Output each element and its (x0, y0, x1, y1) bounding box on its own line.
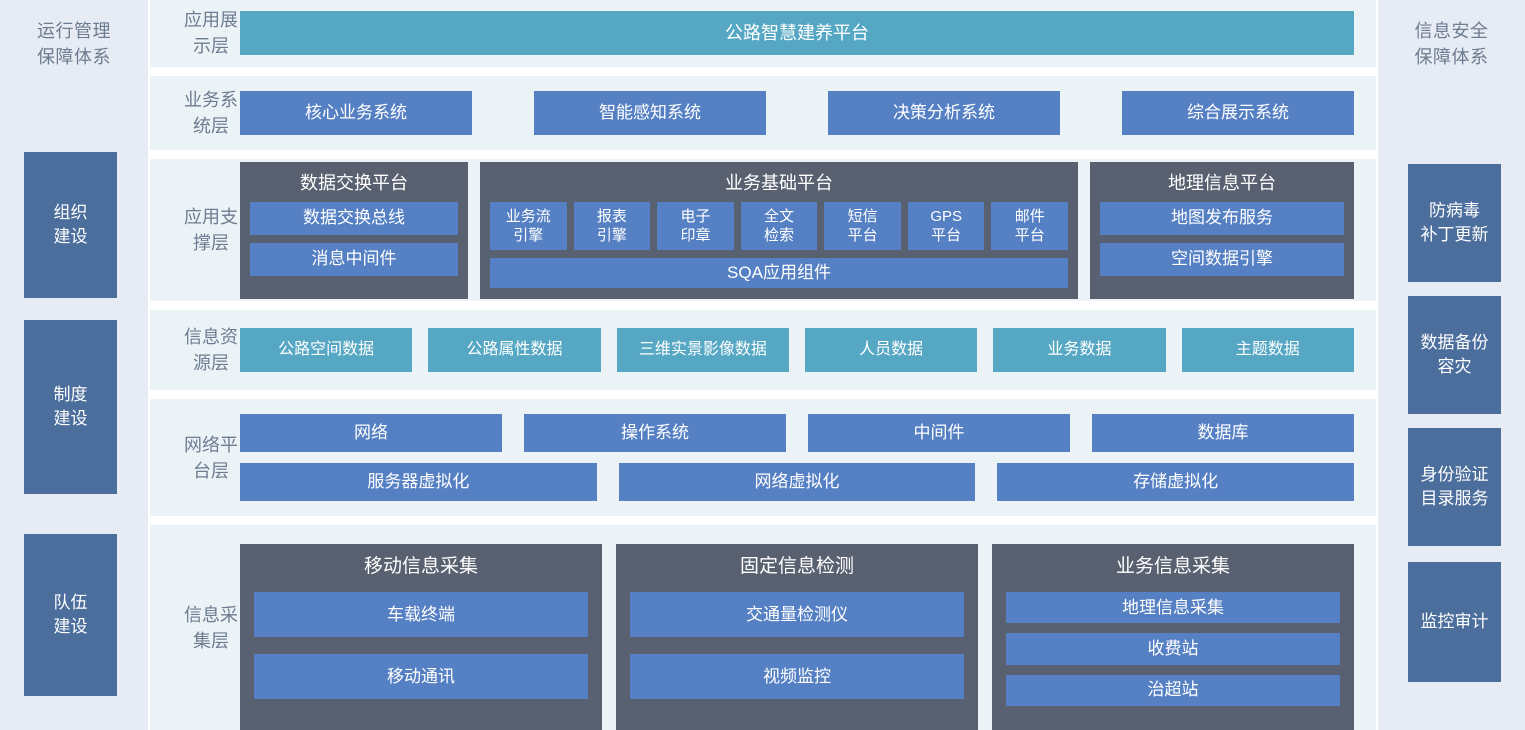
layer-label-display-line1: 应用展 (182, 7, 240, 33)
layer-body-display: 公路智慧建养平台 (240, 11, 1376, 55)
resource-road-spatial-data[interactable]: 公路空间数据 (240, 328, 412, 372)
network-row-infrastructure: 网络 操作系统 中间件 数据库 (240, 414, 1354, 452)
layer-label-network-line1: 网络平 (182, 432, 240, 458)
map-publish-service[interactable]: 地图发布服务 (1100, 202, 1344, 235)
sidebar-item-organization[interactable]: 组织 建设 (24, 152, 117, 298)
pane-gis-title: 地理信息平台 (1168, 170, 1276, 196)
layer-label-business: 业务系 统层 (150, 87, 240, 139)
security-item-identity-directory-line1: 身份验证 (1421, 463, 1489, 487)
pane-business-base-title: 业务基础平台 (725, 170, 833, 196)
chip-gps-platform[interactable]: GPS 平台 (908, 202, 985, 250)
sidebar-item-team-building-line1: 队伍 (54, 591, 88, 615)
collect-vehicle-terminal[interactable]: 车载终端 (254, 592, 588, 637)
layer-label-network-line2: 台层 (182, 458, 240, 484)
layer-row-network: 网络平 台层 网络 操作系统 中间件 数据库 服务器虚拟化 网络虚拟化 存储虚拟… (150, 399, 1376, 516)
chip-mail-platform-line2: 平台 (1015, 226, 1045, 245)
chip-workflow-engine-line1: 业务流 (506, 207, 551, 226)
layer-label-collect: 信息采 集层 (150, 602, 240, 654)
chip-fulltext-search-line1: 全文 (764, 207, 794, 226)
security-item-antivirus-patch-line2: 补丁更新 (1421, 223, 1489, 247)
layer-label-collect-line1: 信息采 (182, 602, 240, 628)
security-item-data-backup[interactable]: 数据备份 容灾 (1408, 296, 1501, 414)
resource-personnel-data[interactable]: 人员数据 (805, 328, 977, 372)
layer-label-resource-line1: 信息资 (182, 324, 240, 350)
layer-body-resource: 公路空间数据 公路属性数据 三维实景影像数据 人员数据 业务数据 主题数据 (240, 328, 1376, 372)
layer-label-business-line1: 业务系 (182, 87, 240, 113)
security-item-monitoring-audit[interactable]: 监控审计 (1408, 562, 1501, 682)
chip-sms-platform-line1: 短信 (848, 207, 878, 226)
layer-label-network: 网络平 台层 (150, 432, 240, 484)
pane-business-collection-title: 业务信息采集 (1116, 554, 1230, 580)
layer-label-collect-line2: 集层 (182, 628, 240, 654)
left-sidebar: 运行管理 保障体系 组织 建设 制度 建设 队伍 建设 (0, 0, 148, 730)
chip-workflow-engine-line2: 引擎 (513, 226, 543, 245)
chip-fulltext-search[interactable]: 全文 检索 (741, 202, 818, 250)
sqa-application-component[interactable]: SQA应用组件 (490, 258, 1068, 288)
layer-body-support: 数据交换平台 数据交换总线 消息中间件 业务基础平台 业务流 引擎 (240, 162, 1376, 299)
layer-label-resource: 信息资 源层 (150, 324, 240, 376)
business-system-perception[interactable]: 智能感知系统 (534, 91, 766, 135)
pane-fixed-detection-title: 固定信息检测 (740, 554, 854, 580)
chip-mail-platform-line1: 邮件 (1015, 207, 1045, 226)
layer-label-support: 应用支 撑层 (150, 204, 240, 256)
security-item-data-backup-line1: 数据备份 (1421, 331, 1489, 355)
pane-data-exchange-platform: 数据交换平台 数据交换总线 消息中间件 (240, 162, 468, 299)
right-sidebar-title: 信息安全 保障体系 (1415, 0, 1489, 70)
collect-overload-station[interactable]: 治超站 (1006, 675, 1340, 706)
chip-sms-platform[interactable]: 短信 平台 (824, 202, 901, 250)
right-sidebar-title-line2: 保障体系 (1415, 44, 1489, 70)
security-item-data-backup-line2: 容灾 (1421, 355, 1489, 379)
network-item-storage-virtualization[interactable]: 存储虚拟化 (997, 463, 1354, 501)
message-middleware[interactable]: 消息中间件 (250, 243, 458, 276)
layer-row-support: 应用支 撑层 数据交换平台 数据交换总线 消息中间件 业务基础平台 (150, 159, 1376, 302)
chip-gps-platform-line1: GPS (930, 207, 962, 226)
layer-label-support-line2: 撑层 (182, 230, 240, 256)
network-item-network[interactable]: 网络 (240, 414, 502, 452)
security-item-identity-directory-line2: 目录服务 (1421, 487, 1489, 511)
chip-electronic-seal[interactable]: 电子 印章 (657, 202, 734, 250)
left-sidebar-title-line2: 保障体系 (37, 44, 111, 70)
chip-mail-platform[interactable]: 邮件 平台 (991, 202, 1068, 250)
collect-traffic-volume-detector[interactable]: 交通量检测仪 (630, 592, 964, 637)
sidebar-item-organization-line1: 组织 (54, 201, 88, 225)
pane-mobile-collection-title: 移动信息采集 (364, 554, 478, 580)
resource-3d-imagery-data[interactable]: 三维实景影像数据 (617, 328, 789, 372)
network-item-database[interactable]: 数据库 (1092, 414, 1354, 452)
left-sidebar-title: 运行管理 保障体系 (37, 0, 111, 70)
chip-workflow-engine[interactable]: 业务流 引擎 (490, 202, 567, 250)
collect-toll-station[interactable]: 收费站 (1006, 633, 1340, 664)
layer-row-display: 应用展 示层 公路智慧建养平台 (150, 0, 1376, 67)
security-item-identity-directory[interactable]: 身份验证 目录服务 (1408, 428, 1501, 546)
chip-report-engine[interactable]: 报表 引擎 (574, 202, 651, 250)
layer-body-collect: 移动信息采集 车载终端 移动通讯 固定信息检测 交通量检测仪 视频监控 业务信息… (240, 525, 1376, 730)
network-item-server-virtualization[interactable]: 服务器虚拟化 (240, 463, 597, 501)
platform-banner[interactable]: 公路智慧建养平台 (240, 11, 1354, 55)
collect-mobile-communication[interactable]: 移动通讯 (254, 654, 588, 699)
chip-electronic-seal-line1: 电子 (680, 207, 710, 226)
layer-row-business: 业务系 统层 核心业务系统 智能感知系统 决策分析系统 综合展示系统 (150, 76, 1376, 150)
business-base-chip-row: 业务流 引擎 报表 引擎 电子 印章 (490, 202, 1068, 250)
layer-label-resource-line2: 源层 (182, 350, 240, 376)
pane-business-base-platform: 业务基础平台 业务流 引擎 报表 引擎 电子 (480, 162, 1078, 299)
security-item-antivirus-patch-line1: 防病毒 (1421, 199, 1489, 223)
sidebar-item-team-building-line2: 建设 (54, 615, 88, 639)
pane-mobile-collection: 移动信息采集 车载终端 移动通讯 (240, 544, 602, 730)
chip-report-engine-line1: 报表 (597, 207, 627, 226)
chip-electronic-seal-line2: 印章 (680, 226, 710, 245)
spatial-data-engine[interactable]: 空间数据引擎 (1100, 243, 1344, 276)
business-system-decision[interactable]: 决策分析系统 (828, 91, 1060, 135)
right-sidebar-title-line1: 信息安全 (1415, 18, 1489, 44)
layer-label-display: 应用展 示层 (150, 7, 240, 59)
architecture-diagram: 运行管理 保障体系 组织 建设 制度 建设 队伍 建设 应用展 (0, 0, 1525, 730)
layer-row-resource: 信息资 源层 公路空间数据 公路属性数据 三维实景影像数据 人员数据 业务数据 … (150, 310, 1376, 390)
sidebar-item-organization-line2: 建设 (54, 225, 88, 249)
sidebar-item-system-building-line1: 制度 (54, 383, 88, 407)
layer-label-business-line2: 统层 (182, 113, 240, 139)
sidebar-item-team-building[interactable]: 队伍 建设 (24, 534, 117, 696)
right-sidebar: 信息安全 保障体系 防病毒 补丁更新 数据备份 容灾 身份验证 目录服务 监控审… (1378, 0, 1525, 730)
layer-stack: 应用展 示层 公路智慧建养平台 业务系 统层 核心业务系统 智能感知系统 决策分… (148, 0, 1378, 730)
resource-road-attribute-data[interactable]: 公路属性数据 (428, 328, 600, 372)
chip-fulltext-search-line2: 检索 (764, 226, 794, 245)
collect-video-surveillance[interactable]: 视频监控 (630, 654, 964, 699)
pane-data-exchange-title: 数据交换平台 (300, 170, 408, 196)
security-item-monitoring-audit-line1: 监控审计 (1421, 610, 1489, 634)
collect-gis-collection[interactable]: 地理信息采集 (1006, 592, 1340, 623)
pane-gis-platform: 地理信息平台 地图发布服务 空间数据引擎 (1090, 162, 1354, 299)
sidebar-item-system-building[interactable]: 制度 建设 (24, 320, 117, 494)
layer-body-business: 核心业务系统 智能感知系统 决策分析系统 综合展示系统 (240, 91, 1376, 135)
chip-report-engine-line2: 引擎 (597, 226, 627, 245)
resource-business-data[interactable]: 业务数据 (993, 328, 1165, 372)
layer-body-network: 网络 操作系统 中间件 数据库 服务器虚拟化 网络虚拟化 存储虚拟化 (240, 414, 1376, 501)
pane-fixed-detection: 固定信息检测 交通量检测仪 视频监控 (616, 544, 978, 730)
layer-label-support-line1: 应用支 (182, 204, 240, 230)
business-system-core[interactable]: 核心业务系统 (240, 91, 472, 135)
pane-business-collection: 业务信息采集 地理信息采集 收费站 治超站 (992, 544, 1354, 730)
data-exchange-bus[interactable]: 数据交换总线 (250, 202, 458, 235)
resource-thematic-data[interactable]: 主题数据 (1182, 328, 1354, 372)
network-row-virtualization: 服务器虚拟化 网络虚拟化 存储虚拟化 (240, 463, 1354, 501)
network-item-os[interactable]: 操作系统 (524, 414, 786, 452)
sidebar-item-system-building-line2: 建设 (54, 407, 88, 431)
network-item-middleware[interactable]: 中间件 (808, 414, 1070, 452)
chip-gps-platform-line2: 平台 (931, 226, 961, 245)
layer-row-collect: 信息采 集层 移动信息采集 车载终端 移动通讯 固定信息检测 交通量检测仪 视频… (150, 525, 1376, 730)
business-system-display[interactable]: 综合展示系统 (1122, 91, 1354, 135)
chip-sms-platform-line2: 平台 (848, 226, 878, 245)
network-item-network-virtualization[interactable]: 网络虚拟化 (619, 463, 976, 501)
layer-label-display-line2: 示层 (182, 33, 240, 59)
security-item-antivirus-patch[interactable]: 防病毒 补丁更新 (1408, 164, 1501, 282)
left-sidebar-title-line1: 运行管理 (37, 18, 111, 44)
